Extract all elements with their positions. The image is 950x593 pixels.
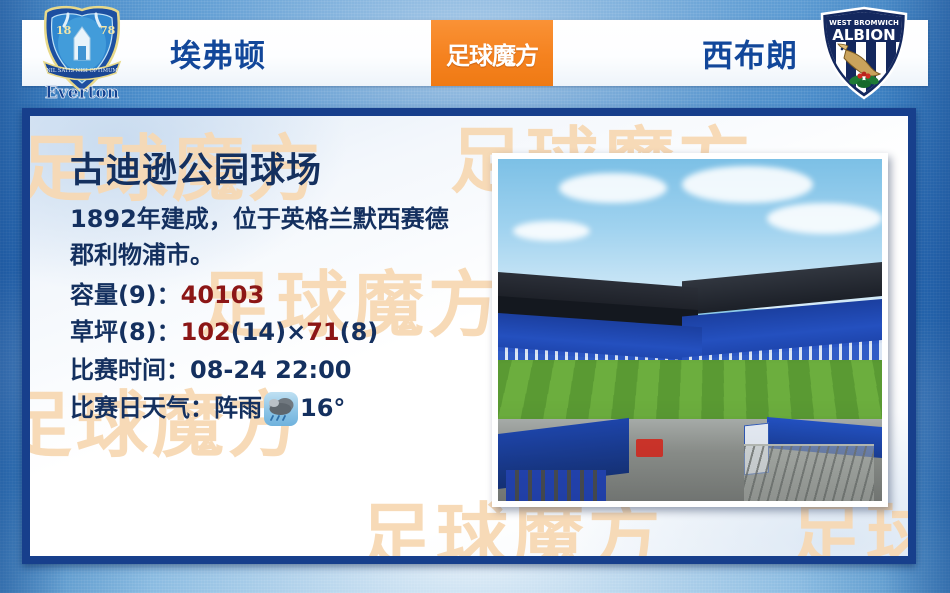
everton-motto: NIL SATIS NISI OPTIMUM [46,68,118,74]
wba-crest-svg: WEST BROMWICH ALBION [812,4,916,102]
weather-condition: 阵雨 [214,390,262,428]
match-weather-row: 比赛日天气：阵雨 16° [70,390,490,428]
away-team-name: 西布朗 [702,31,798,76]
svg-text:78: 78 [100,24,116,37]
pitch-length-value: 102 [181,318,231,346]
pitch-length-rank: (14) [231,318,286,346]
wba-line2: ALBION [832,26,896,44]
stadium-info-column: 古迪逊公园球场 1892年建成，位于英格兰默西赛德郡利物浦市。 容量(9)：40… [70,152,490,428]
match-time-row: 比赛时间：08-24 22:00 [70,352,490,390]
match-time-value: 08-24 22:00 [190,356,352,384]
stadium-info-panel: 足球魔方 足球魔方 足球魔方 足球魔方 足球魔方 足球魔方 古迪逊公园球场 18… [22,108,916,564]
everton-wordmark: Everton [45,83,119,102]
everton-crest-svg: 18 78 NIL SATIS NISI OPTIMUM Everton [30,4,134,102]
pitch-label: 草坪(8)： [70,318,181,346]
pitch-times-symbol: × [286,318,306,346]
weather-temperature: 16° [300,390,345,428]
stadium-title: 古迪逊公园球场 [70,152,490,191]
match-time-label: 比赛时间： [70,356,190,384]
home-team-name: 埃弗顿 [170,31,266,76]
photo-vignette [498,159,882,501]
pitch-size-row: 草坪(8)：102(14)×71(8) [70,314,490,352]
capacity-row: 容量(9)：40103 [70,277,490,315]
capacity-value: 40103 [181,281,265,309]
everton-crest: 18 78 NIL SATIS NISI OPTIMUM Everton [30,4,134,102]
stadium-photo [498,159,882,501]
match-stadium-card: 埃弗顿 足球魔方 西布朗 18 78 NIL SATIS NISI OPTIMU… [0,0,950,593]
site-logo-badge[interactable]: 足球魔方 [431,20,553,86]
stadium-description: 1892年建成，位于英格兰默西赛德郡利物浦市。 [70,201,470,273]
weather-label: 比赛日天气： [70,390,214,428]
shower-rain-icon [264,392,298,426]
west-bromwich-albion-crest: WEST BROMWICH ALBION [812,4,916,102]
pitch-width-rank: (8) [340,318,379,346]
match-header-bar: 埃弗顿 足球魔方 西布朗 [22,20,928,86]
capacity-label: 容量(9)： [70,281,181,309]
stadium-photo-frame [492,153,888,507]
site-logo-text: 足球魔方 [446,36,538,71]
svg-text:18: 18 [56,24,72,37]
pitch-width-value: 71 [306,318,339,346]
